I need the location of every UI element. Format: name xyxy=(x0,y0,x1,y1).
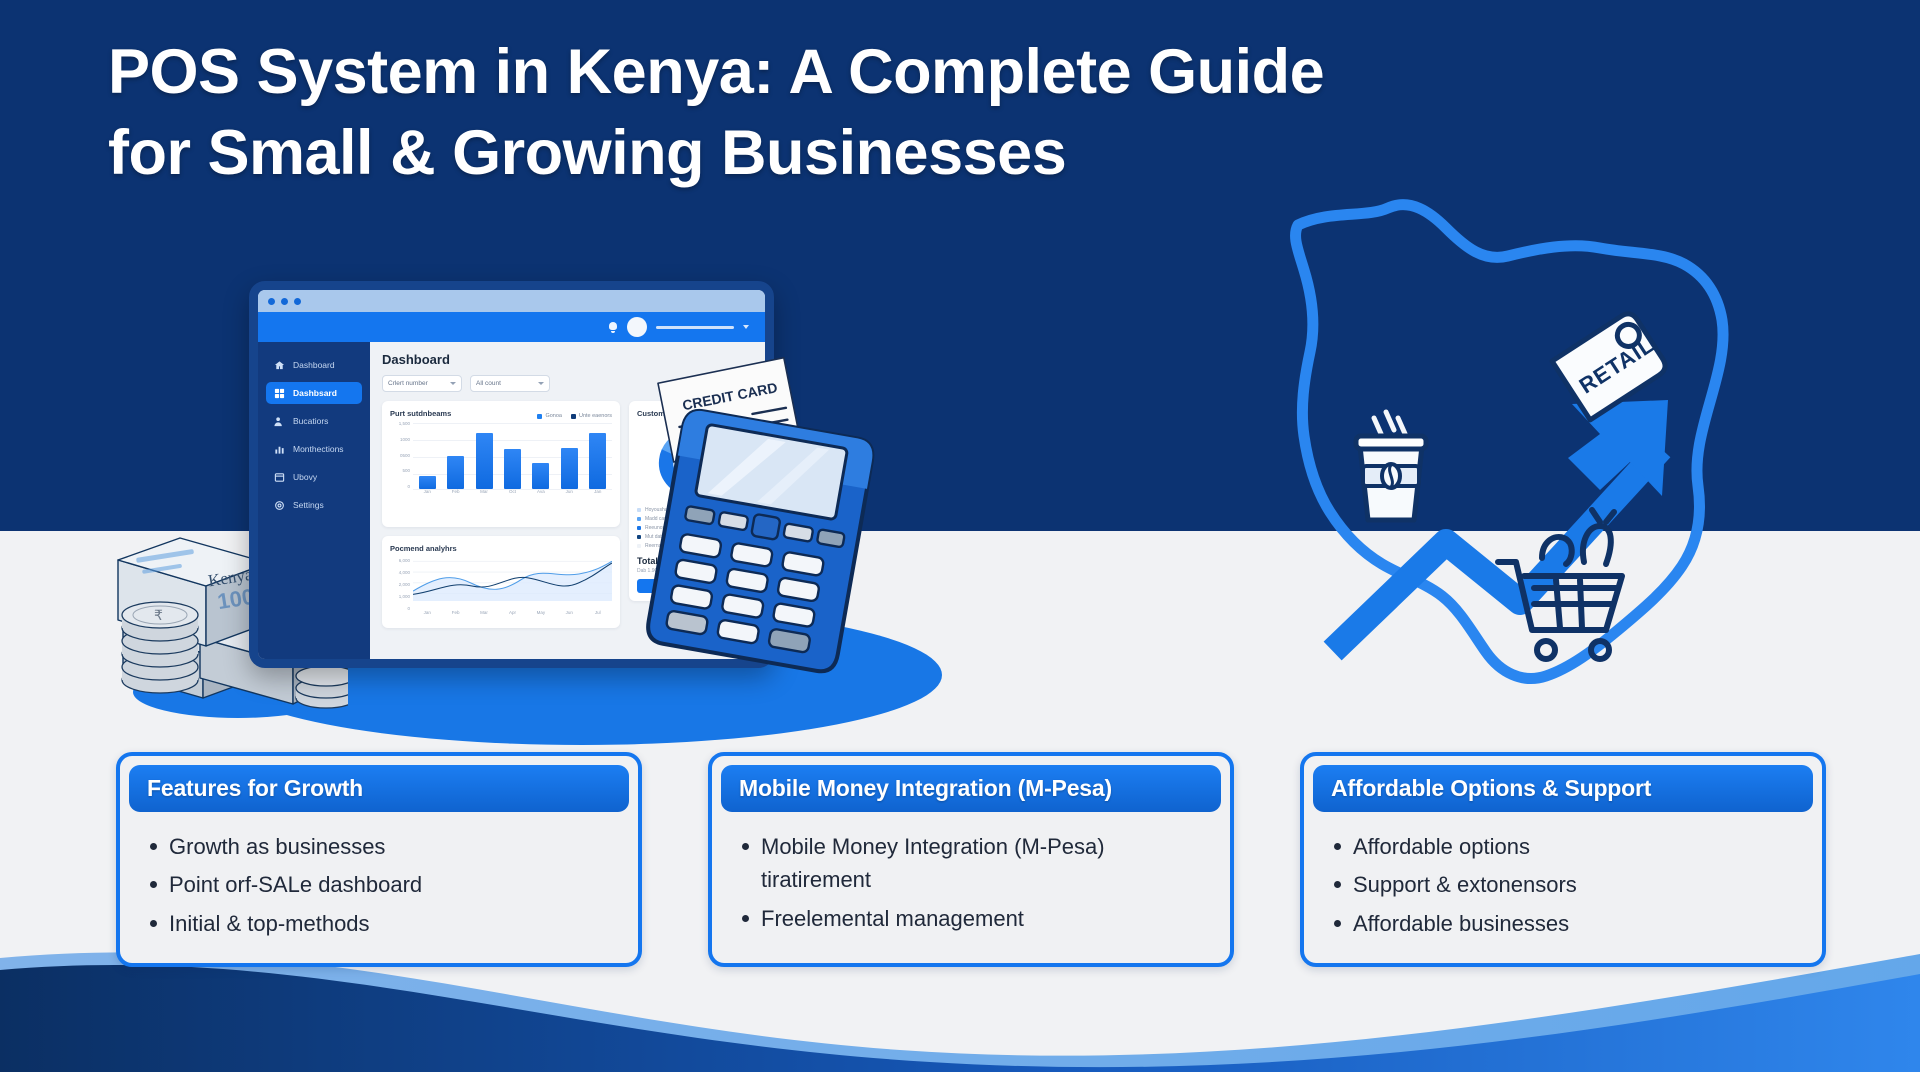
chevron-down-icon xyxy=(450,382,456,385)
x-tick: Jun xyxy=(561,610,578,620)
y-tick: 4,000 xyxy=(390,570,410,575)
pos-terminal-illustration: CREDIT CARD xyxy=(640,355,900,685)
browser-chrome-bar xyxy=(258,290,765,312)
list-item: Growth as businesses xyxy=(169,830,619,863)
y-tick: 2,000 xyxy=(390,582,410,587)
filter-select-credit-number[interactable]: Crlert number xyxy=(382,375,462,392)
x-tick: Ava xyxy=(532,489,549,499)
legend-entry: Unte eaenors xyxy=(571,413,612,419)
card-bullet-list: Mobile Money Integration (M-Pesa) tirati… xyxy=(721,830,1221,935)
area-chart-x-axis: JanFebMarAprMayJunJul xyxy=(413,610,612,620)
x-tick: Jan xyxy=(589,489,606,499)
area-chart-panel: Pocmend analyhrs 6,000 4,000 2,000 1,000… xyxy=(382,536,620,628)
bar-chart-panel: Purt sutdnbeams Gonoa Unte eaenors xyxy=(382,401,620,527)
username-placeholder-line xyxy=(656,326,734,329)
window-dot-icon xyxy=(268,298,275,305)
list-item: Support & extonensors xyxy=(1353,868,1803,901)
x-tick: Feb xyxy=(447,489,464,499)
list-item: Point orf-SALe dashboard xyxy=(169,868,619,901)
x-tick: Mar xyxy=(476,610,493,620)
list-item: Initial & top-methods xyxy=(169,907,619,940)
dashboard-sidebar: Dashboard Dashbsard Bucatiors xyxy=(258,342,370,659)
bell-icon[interactable] xyxy=(608,322,618,333)
sidebar-item-monthections[interactable]: Monthections xyxy=(266,438,362,460)
card-bullet-list: Growth as businesses Point orf-SALe dash… xyxy=(129,830,629,940)
bar-series xyxy=(413,421,612,489)
sidebar-item-settings[interactable]: Settings xyxy=(266,494,362,516)
x-tick: Jul xyxy=(589,610,606,620)
bar xyxy=(589,433,606,489)
bar-chart-plot: JanFebMarOctAvaJunJan xyxy=(413,421,612,499)
bar xyxy=(532,463,549,489)
card-heading: Features for Growth xyxy=(129,765,629,812)
gear-icon xyxy=(274,500,285,511)
sidebar-item-label: Bucatiors xyxy=(293,416,328,426)
title-line-1: POS System in Kenya: A Complete Guide xyxy=(108,32,1838,113)
list-item: Mobile Money Integration (M-Pesa) tirati… xyxy=(761,830,1211,897)
bar-chart-y-axis: 1,500 1000 0500 500 0 xyxy=(390,421,413,499)
x-tick: May xyxy=(532,610,549,620)
sidebar-item-label: Dashbsard xyxy=(293,388,337,398)
area-chart-y-axis: 6,000 4,000 2,000 1,000 0 xyxy=(390,558,413,620)
legend-entry: Gonoa xyxy=(537,413,562,419)
info-card-mobile-money-integration: Mobile Money Integration (M-Pesa) Mobile… xyxy=(708,752,1234,967)
avatar[interactable] xyxy=(627,317,647,337)
x-tick: Mar xyxy=(476,489,493,499)
window-dot-icon xyxy=(281,298,288,305)
info-cards-row: Features for Growth Growth as businesses… xyxy=(116,752,1826,967)
sidebar-item-bucatiors[interactable]: Bucatiors xyxy=(266,410,362,432)
sidebar-item-label: Ubovy xyxy=(293,472,317,482)
area-chart-plot: JanFebMarAprMayJunJul xyxy=(413,558,612,620)
filter-value: All count xyxy=(476,380,501,387)
info-card-features-for-growth: Features for Growth Growth as businesses… xyxy=(116,752,642,967)
bar xyxy=(561,448,578,489)
y-tick: 1000 xyxy=(390,437,410,442)
card-bullet-list: Affordable options Support & extonensors… xyxy=(1313,830,1813,940)
legend-label: Gonoa xyxy=(545,413,562,419)
y-tick: 500 xyxy=(390,468,410,473)
y-tick: 0 xyxy=(390,606,410,611)
sidebar-item-label: Dashboard xyxy=(293,360,335,370)
x-tick: Jan xyxy=(419,489,436,499)
info-card-affordable-options-support: Affordable Options & Support Affordable … xyxy=(1300,752,1826,967)
y-tick: 0500 xyxy=(390,453,410,458)
bar xyxy=(504,449,521,489)
list-item: Affordable businesses xyxy=(1353,907,1803,940)
bar xyxy=(447,456,464,489)
legend-label: Unte eaenors xyxy=(579,413,612,419)
title-line-2: for Small & Growing Businesses xyxy=(108,113,1838,194)
x-tick: Jan xyxy=(419,610,436,620)
filter-value: Crlert number xyxy=(388,380,428,387)
sidebar-item-label: Monthections xyxy=(293,444,344,454)
y-tick: 1,000 xyxy=(390,594,410,599)
y-tick: 6,000 xyxy=(390,558,410,563)
kenya-map-scene: RETAIL xyxy=(1270,190,1790,690)
app-topbar xyxy=(258,312,765,342)
card-heading: Affordable Options & Support xyxy=(1313,765,1813,812)
x-tick: Oct xyxy=(504,489,521,499)
chevron-down-icon[interactable] xyxy=(743,325,749,329)
sidebar-item-label: Settings xyxy=(293,500,324,510)
y-tick: 0 xyxy=(390,484,410,489)
coin-currency-symbol: ₹ xyxy=(154,608,163,624)
sidebar-item-dashbsard[interactable]: Dashbsard xyxy=(266,382,362,404)
grid-icon xyxy=(274,388,285,399)
home-icon xyxy=(274,360,285,371)
bar xyxy=(476,433,493,489)
users-icon xyxy=(274,416,285,427)
coffee-cup-icon xyxy=(1356,412,1426,520)
sidebar-item-dashboard[interactable]: Dashboard xyxy=(266,354,362,376)
bar xyxy=(419,476,436,489)
bar-chart-icon xyxy=(274,444,285,455)
x-tick: Apr xyxy=(504,610,521,620)
window-icon xyxy=(274,472,285,483)
list-item: Affordable options xyxy=(1353,830,1803,863)
infographic-canvas: POS System in Kenya: A Complete Guide fo… xyxy=(0,0,1920,1072)
x-tick: Feb xyxy=(447,610,464,620)
page-title: POS System in Kenya: A Complete Guide fo… xyxy=(108,32,1838,193)
sidebar-item-ubovy[interactable]: Ubovy xyxy=(266,466,362,488)
window-dot-icon xyxy=(294,298,301,305)
area-chart-title: Pocmend analyhrs xyxy=(390,544,612,553)
list-item: Freelemental management xyxy=(761,902,1211,935)
y-tick: 1,500 xyxy=(390,421,410,426)
chevron-down-icon xyxy=(538,382,544,385)
card-heading: Mobile Money Integration (M-Pesa) xyxy=(721,765,1221,812)
filter-select-account[interactable]: All count xyxy=(470,375,550,392)
x-tick: Jun xyxy=(561,489,578,499)
bar-chart-x-axis: JanFebMarOctAvaJunJan xyxy=(413,489,612,499)
